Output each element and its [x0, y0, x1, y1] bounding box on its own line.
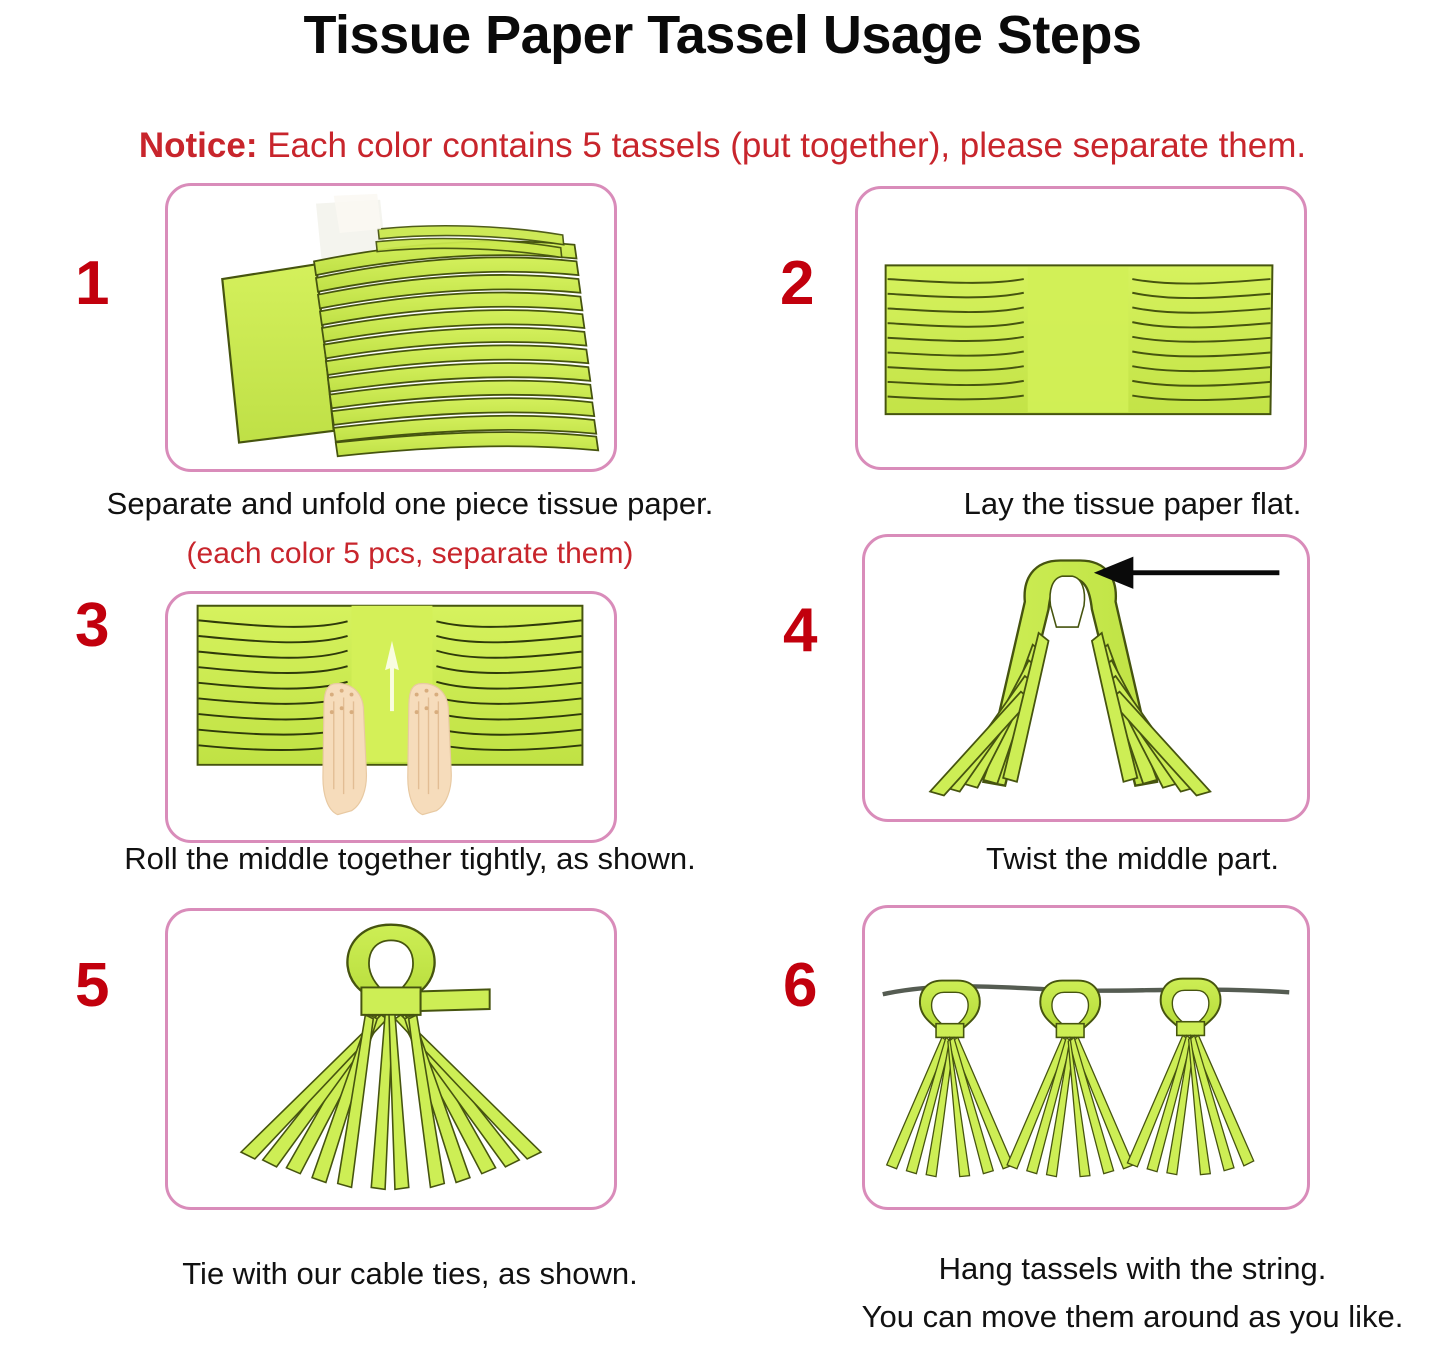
tassel-2 — [1007, 981, 1133, 1177]
three-tassels-on-string-icon — [865, 908, 1307, 1207]
step-number-2: 2 — [780, 253, 814, 315]
step-panel-2 — [855, 186, 1307, 470]
step-caption-4: Twist the middle part. — [820, 840, 1445, 878]
step-panel-6 — [862, 905, 1310, 1210]
step-number-4: 4 — [783, 600, 817, 662]
tassel-with-cable-tie-icon — [168, 911, 614, 1207]
step-caption-5: Tie with our cable ties, as shown. — [0, 1255, 820, 1293]
notice-line: Notice: Each color contains 5 tassels (p… — [0, 126, 1445, 166]
step-caption-3: Roll the middle together tightly, as sho… — [0, 840, 820, 878]
step-subcaption-1: (each color 5 pcs, separate them) — [0, 536, 820, 573]
fringed-paper-flat-icon — [858, 189, 1304, 467]
step-number-3: 3 — [75, 595, 109, 657]
step-panel-1 — [165, 183, 617, 472]
step-number-1: 1 — [75, 253, 109, 315]
twisted-loop-with-arrow-icon — [865, 537, 1307, 819]
tassel-3 — [1127, 979, 1253, 1175]
infographic-page: Tissue Paper Tassel Usage Steps Notice: … — [0, 0, 1445, 1353]
step-caption-1: Separate and unfold one piece tissue pap… — [0, 485, 820, 523]
notice-label: Notice: — [139, 126, 258, 165]
step-panel-3 — [165, 591, 617, 843]
page-title: Tissue Paper Tassel Usage Steps — [0, 4, 1445, 66]
step-panel-4 — [862, 534, 1310, 822]
tassel-1 — [887, 981, 1013, 1177]
step-number-5: 5 — [75, 955, 109, 1017]
fringed-paper-unfolded-icon — [168, 186, 614, 469]
step-caption-6: Hang tassels with the string. — [820, 1250, 1445, 1288]
left-arrow-icon — [1094, 557, 1279, 589]
step-subcaption-6: You can move them around as you like. — [820, 1298, 1445, 1336]
step-panel-5 — [165, 908, 617, 1210]
notice-text: Each color contains 5 tassels (put toget… — [257, 126, 1306, 165]
step-number-6: 6 — [783, 955, 817, 1017]
hands-rolling-middle-icon — [168, 594, 614, 840]
step-caption-2: Lay the tissue paper flat. — [820, 485, 1445, 523]
